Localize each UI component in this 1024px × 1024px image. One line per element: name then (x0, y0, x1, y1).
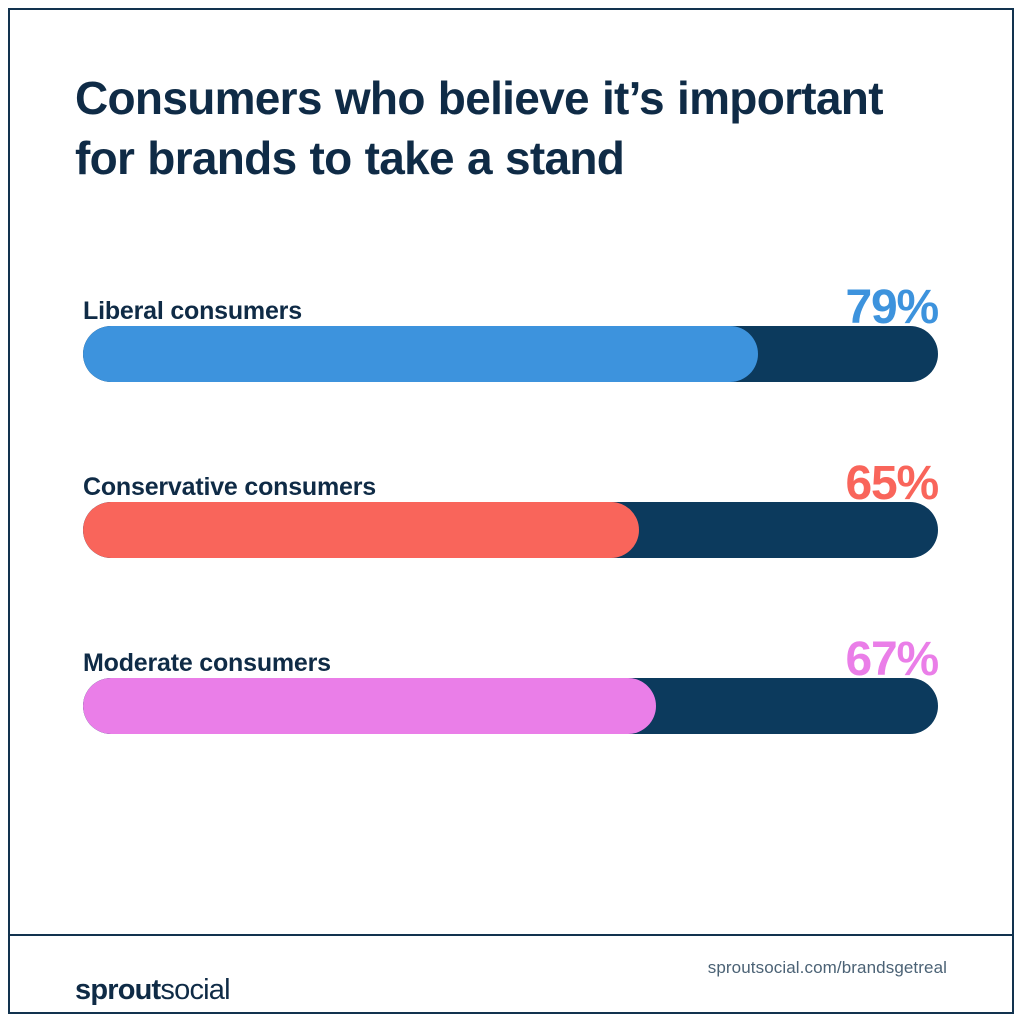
bar-group-moderate-consumers: Moderate consumers 67% (83, 624, 938, 734)
bar-chart: Liberal consumers 79% Conservative consu… (83, 272, 938, 734)
bar-fill-conservative-consumers (83, 502, 639, 558)
infographic-card: Consumers who believe it’s important for… (8, 8, 1014, 1014)
footer-url: sproutsocial.com/brandsgetreal (708, 958, 947, 978)
page-title: Consumers who believe it’s important for… (75, 68, 955, 188)
bar-label-conservative-consumers: Conservative consumers (83, 473, 376, 502)
bar-track-liberal-consumers (83, 326, 938, 382)
bar-header: Moderate consumers 67% (83, 624, 938, 678)
bar-label-liberal-consumers: Liberal consumers (83, 297, 302, 326)
logo-word-sprout: sprout (75, 974, 160, 1006)
title-block: Consumers who believe it’s important for… (75, 68, 955, 188)
bar-value-conservative-consumers: 65% (846, 460, 938, 508)
bar-fill-liberal-consumers (83, 326, 758, 382)
bar-value-liberal-consumers: 79% (846, 284, 938, 332)
logo-word-social: social (160, 974, 229, 1006)
bar-group-conservative-consumers: Conservative consumers 65% (83, 448, 938, 558)
sprout-social-logo: sproutsocial (75, 974, 230, 1006)
footer: sproutsocial sproutsocial.com/brandsgetr… (10, 936, 1012, 1012)
bar-header: Conservative consumers 65% (83, 448, 938, 502)
bar-group-liberal-consumers: Liberal consumers 79% (83, 272, 938, 382)
bar-label-moderate-consumers: Moderate consumers (83, 649, 331, 678)
bar-track-conservative-consumers (83, 502, 938, 558)
bar-track-moderate-consumers (83, 678, 938, 734)
bar-value-moderate-consumers: 67% (846, 636, 938, 684)
bar-fill-moderate-consumers (83, 678, 656, 734)
bar-header: Liberal consumers 79% (83, 272, 938, 326)
